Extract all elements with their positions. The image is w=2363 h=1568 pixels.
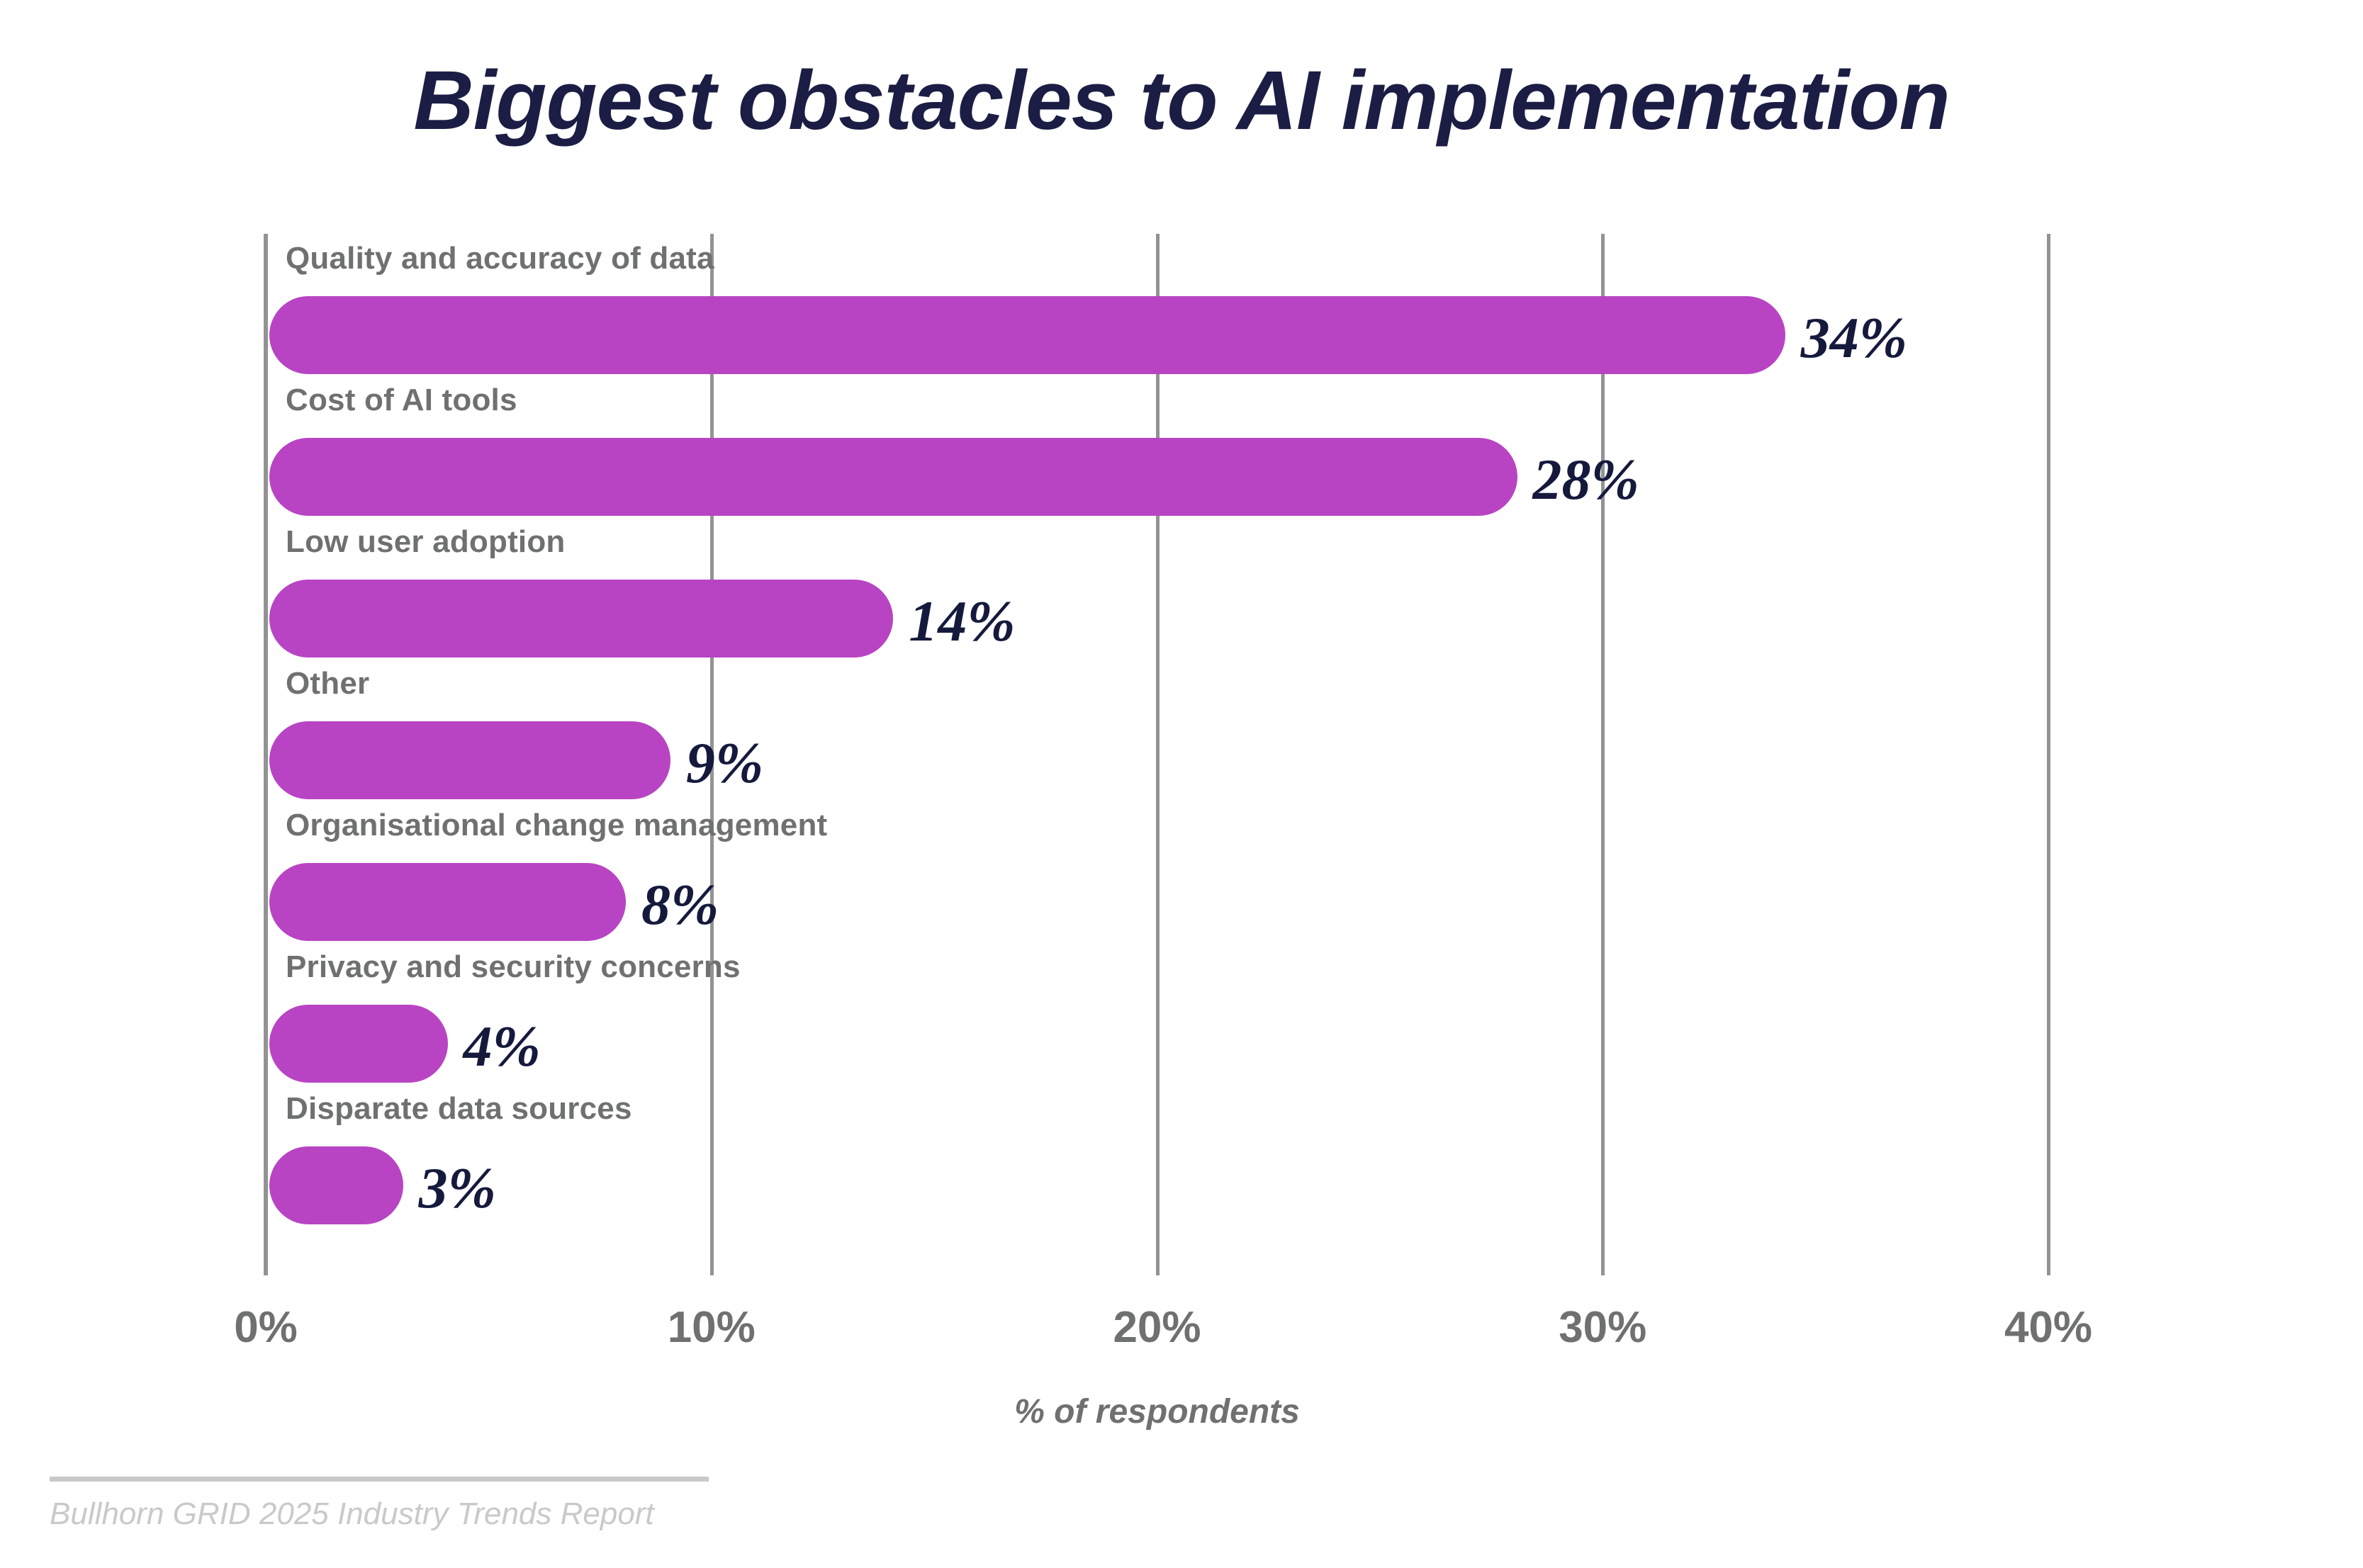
bar-group: 34% [269,296,1907,374]
x-axis-tick-labels: 0% 10% 20% 30% 40% [0,1302,2363,1366]
bar-shape[interactable] [269,863,626,941]
x-tick-label: 10% [668,1302,756,1353]
bar-shape[interactable] [269,438,1517,516]
footer-divider [50,1477,709,1482]
bar-group: 8% [269,863,719,941]
x-tick-label: 20% [1113,1302,1201,1353]
bar-row[interactable]: Privacy and security concerns 4% [266,942,2363,1084]
bar-shape[interactable] [269,721,670,799]
bar-row[interactable]: Other 9% [266,659,2363,801]
bar-value-label: 34% [1801,309,1907,367]
bar-category-label: Quality and accuracy of data [286,241,714,276]
bar-row[interactable]: Low user adoption 14% [266,517,2363,659]
bar-row[interactable]: Cost of AI tools 28% [266,376,2363,517]
bar-category-label: Disparate data sources [286,1091,632,1127]
bar-value-label: 3% [419,1159,496,1217]
x-tick-label: 30% [1559,1302,1646,1353]
bar-row[interactable]: Organisational change management 8% [266,801,2363,942]
bar-group: 14% [269,580,1016,658]
bar-group: 4% [269,1005,541,1083]
bar-shape[interactable] [269,296,1785,374]
bar-value-label: 4% [464,1017,541,1076]
footer-source-text: Bullhorn GRID 2025 Industry Trends Repor… [50,1496,654,1532]
x-axis-title: % of respondents [266,1392,2048,1431]
chart-title: Biggest obstacles to AI implementation [0,55,2363,147]
bar-value-label: 14% [909,592,1015,650]
bar-category-label: Cost of AI tools [286,383,517,418]
bar-shape[interactable] [269,580,893,658]
bar-category-label: Other [286,666,369,701]
bar-group: 9% [269,721,763,799]
bar-value-label: 9% [686,734,763,792]
bar-row[interactable]: Disparate data sources 3% [266,1084,2363,1226]
bar-group: 28% [269,438,1639,516]
bar-category-label: Organisational change management [286,808,827,843]
x-tick-label: 0% [234,1302,298,1353]
bar-group: 3% [269,1146,496,1224]
plot-area: Quality and accuracy of data 34% Cost of… [266,234,2048,1275]
bar-shape[interactable] [269,1005,448,1083]
bar-row[interactable]: Quality and accuracy of data 34% [266,234,2363,376]
bar-category-label: Low user adoption [286,524,566,560]
x-tick-label: 40% [2004,1302,2092,1353]
bar-category-label: Privacy and security concerns [286,949,741,985]
bar-value-label: 8% [641,876,719,934]
bar-value-label: 28% [1533,451,1639,509]
bar-shape[interactable] [269,1146,403,1224]
